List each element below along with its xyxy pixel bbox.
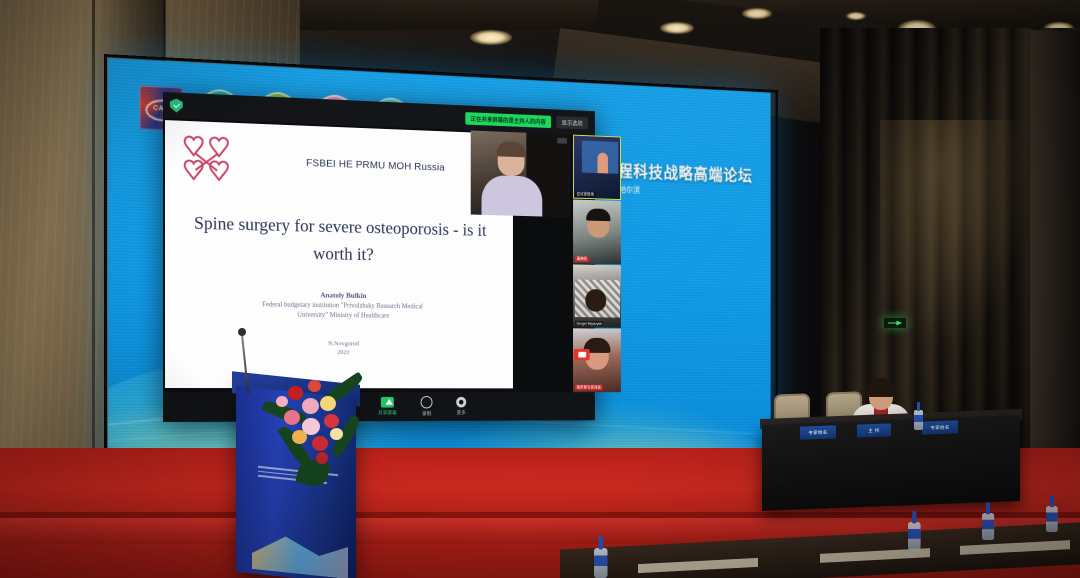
record-button[interactable]: 录制 (421, 396, 433, 417)
ceiling-downlight (660, 22, 694, 34)
participant-tile[interactable]: Sergei Mlyavykh (573, 264, 621, 328)
participant-name: 俄罗斯专家译者 (575, 385, 603, 391)
slide-title: Spine surgery for severe osteoporosis - … (175, 208, 504, 270)
record-label: 录制 (422, 410, 431, 417)
shield-icon (170, 98, 183, 113)
nameplate: 专家姓名 (922, 420, 958, 434)
display-options-button[interactable]: 显示选项 (556, 116, 588, 130)
participant-name: Sergei Mlyavykh (575, 321, 604, 326)
participant-tile[interactable]: 屠晓帆 (573, 199, 621, 264)
room-person (598, 152, 608, 173)
microphone-head (238, 328, 246, 336)
exit-arrow-icon (888, 321, 902, 326)
wall-light-pool (880, 120, 1030, 350)
participant-hair (586, 208, 610, 221)
participant-name: 屠晓帆 (575, 255, 589, 261)
water-bottle (914, 402, 923, 430)
slide-place-year: N.Novgorod 2021 (185, 338, 495, 358)
nameplate: 专家姓名 (800, 425, 836, 439)
video-conference-body: FSBEI HE PRMU MOH Russia Spine surgery f… (163, 118, 595, 392)
flower (292, 430, 307, 444)
video-conference-toolbar: 参会者 聊天 共享屏幕 录制 更多 (163, 392, 595, 422)
water-bottle (1046, 496, 1058, 532)
conference-photo-scene: CAE 中 绣 重大疾病国际工程科技战略高端论坛 (0, 0, 1080, 578)
ceiling-downlight (846, 12, 866, 20)
speaker-torso (482, 175, 543, 218)
view-mode-badge[interactable] (557, 138, 567, 144)
floral-arrangement (258, 368, 378, 486)
flower (324, 414, 339, 428)
slide-year: 2021 (185, 347, 495, 358)
prmu-interlocking-hearts-logo (179, 133, 234, 183)
water-bottle (982, 502, 994, 540)
nameplate: 主 持 (857, 423, 891, 437)
record-stop-button[interactable] (574, 349, 590, 360)
slide-affiliation: Federal budgetary institution "Privolzhs… (185, 298, 495, 321)
shared-presentation-slide: FSBEI HE PRMU MOH Russia Spine surgery f… (165, 120, 513, 388)
speaker-video-tile[interactable] (471, 130, 571, 217)
more-button[interactable]: 更多 (456, 397, 466, 416)
flower (288, 386, 303, 400)
water-bottle (594, 536, 608, 578)
ceiling-downlight (470, 30, 512, 45)
flower (284, 410, 300, 425)
ceiling-downlight (742, 8, 772, 19)
slide-organization: FSBEI HE PRMU MOH Russia (258, 155, 491, 175)
share-screen-label: 共享屏幕 (378, 410, 397, 417)
participant-tile[interactable]: 会议室现场 (573, 135, 621, 200)
more-icon (456, 397, 466, 408)
participant-tile[interactable]: 俄罗斯专家译者 (573, 329, 621, 393)
participant-head (585, 289, 606, 312)
water-bottle (908, 511, 921, 550)
flower (308, 380, 321, 392)
share-screen-button[interactable]: 共享屏幕 (378, 397, 397, 416)
video-conference-window[interactable]: 正在共享屏幕的是主持人的内容 显示选项 FSBEI HE PRMU MOH Ru… (163, 92, 595, 422)
share-screen-icon (381, 397, 394, 408)
flower (320, 396, 336, 411)
screen-share-notice: 正在共享屏幕的是主持人的内容 (465, 112, 551, 128)
flower (312, 436, 328, 451)
flower (276, 396, 288, 407)
more-label: 更多 (457, 409, 466, 416)
flower (330, 428, 343, 440)
record-icon (421, 396, 433, 409)
flower (302, 398, 319, 414)
exit-sign (884, 318, 906, 328)
stop-square-icon (578, 352, 586, 358)
participant-name: 会议室现场 (575, 191, 596, 197)
flower (316, 452, 328, 464)
